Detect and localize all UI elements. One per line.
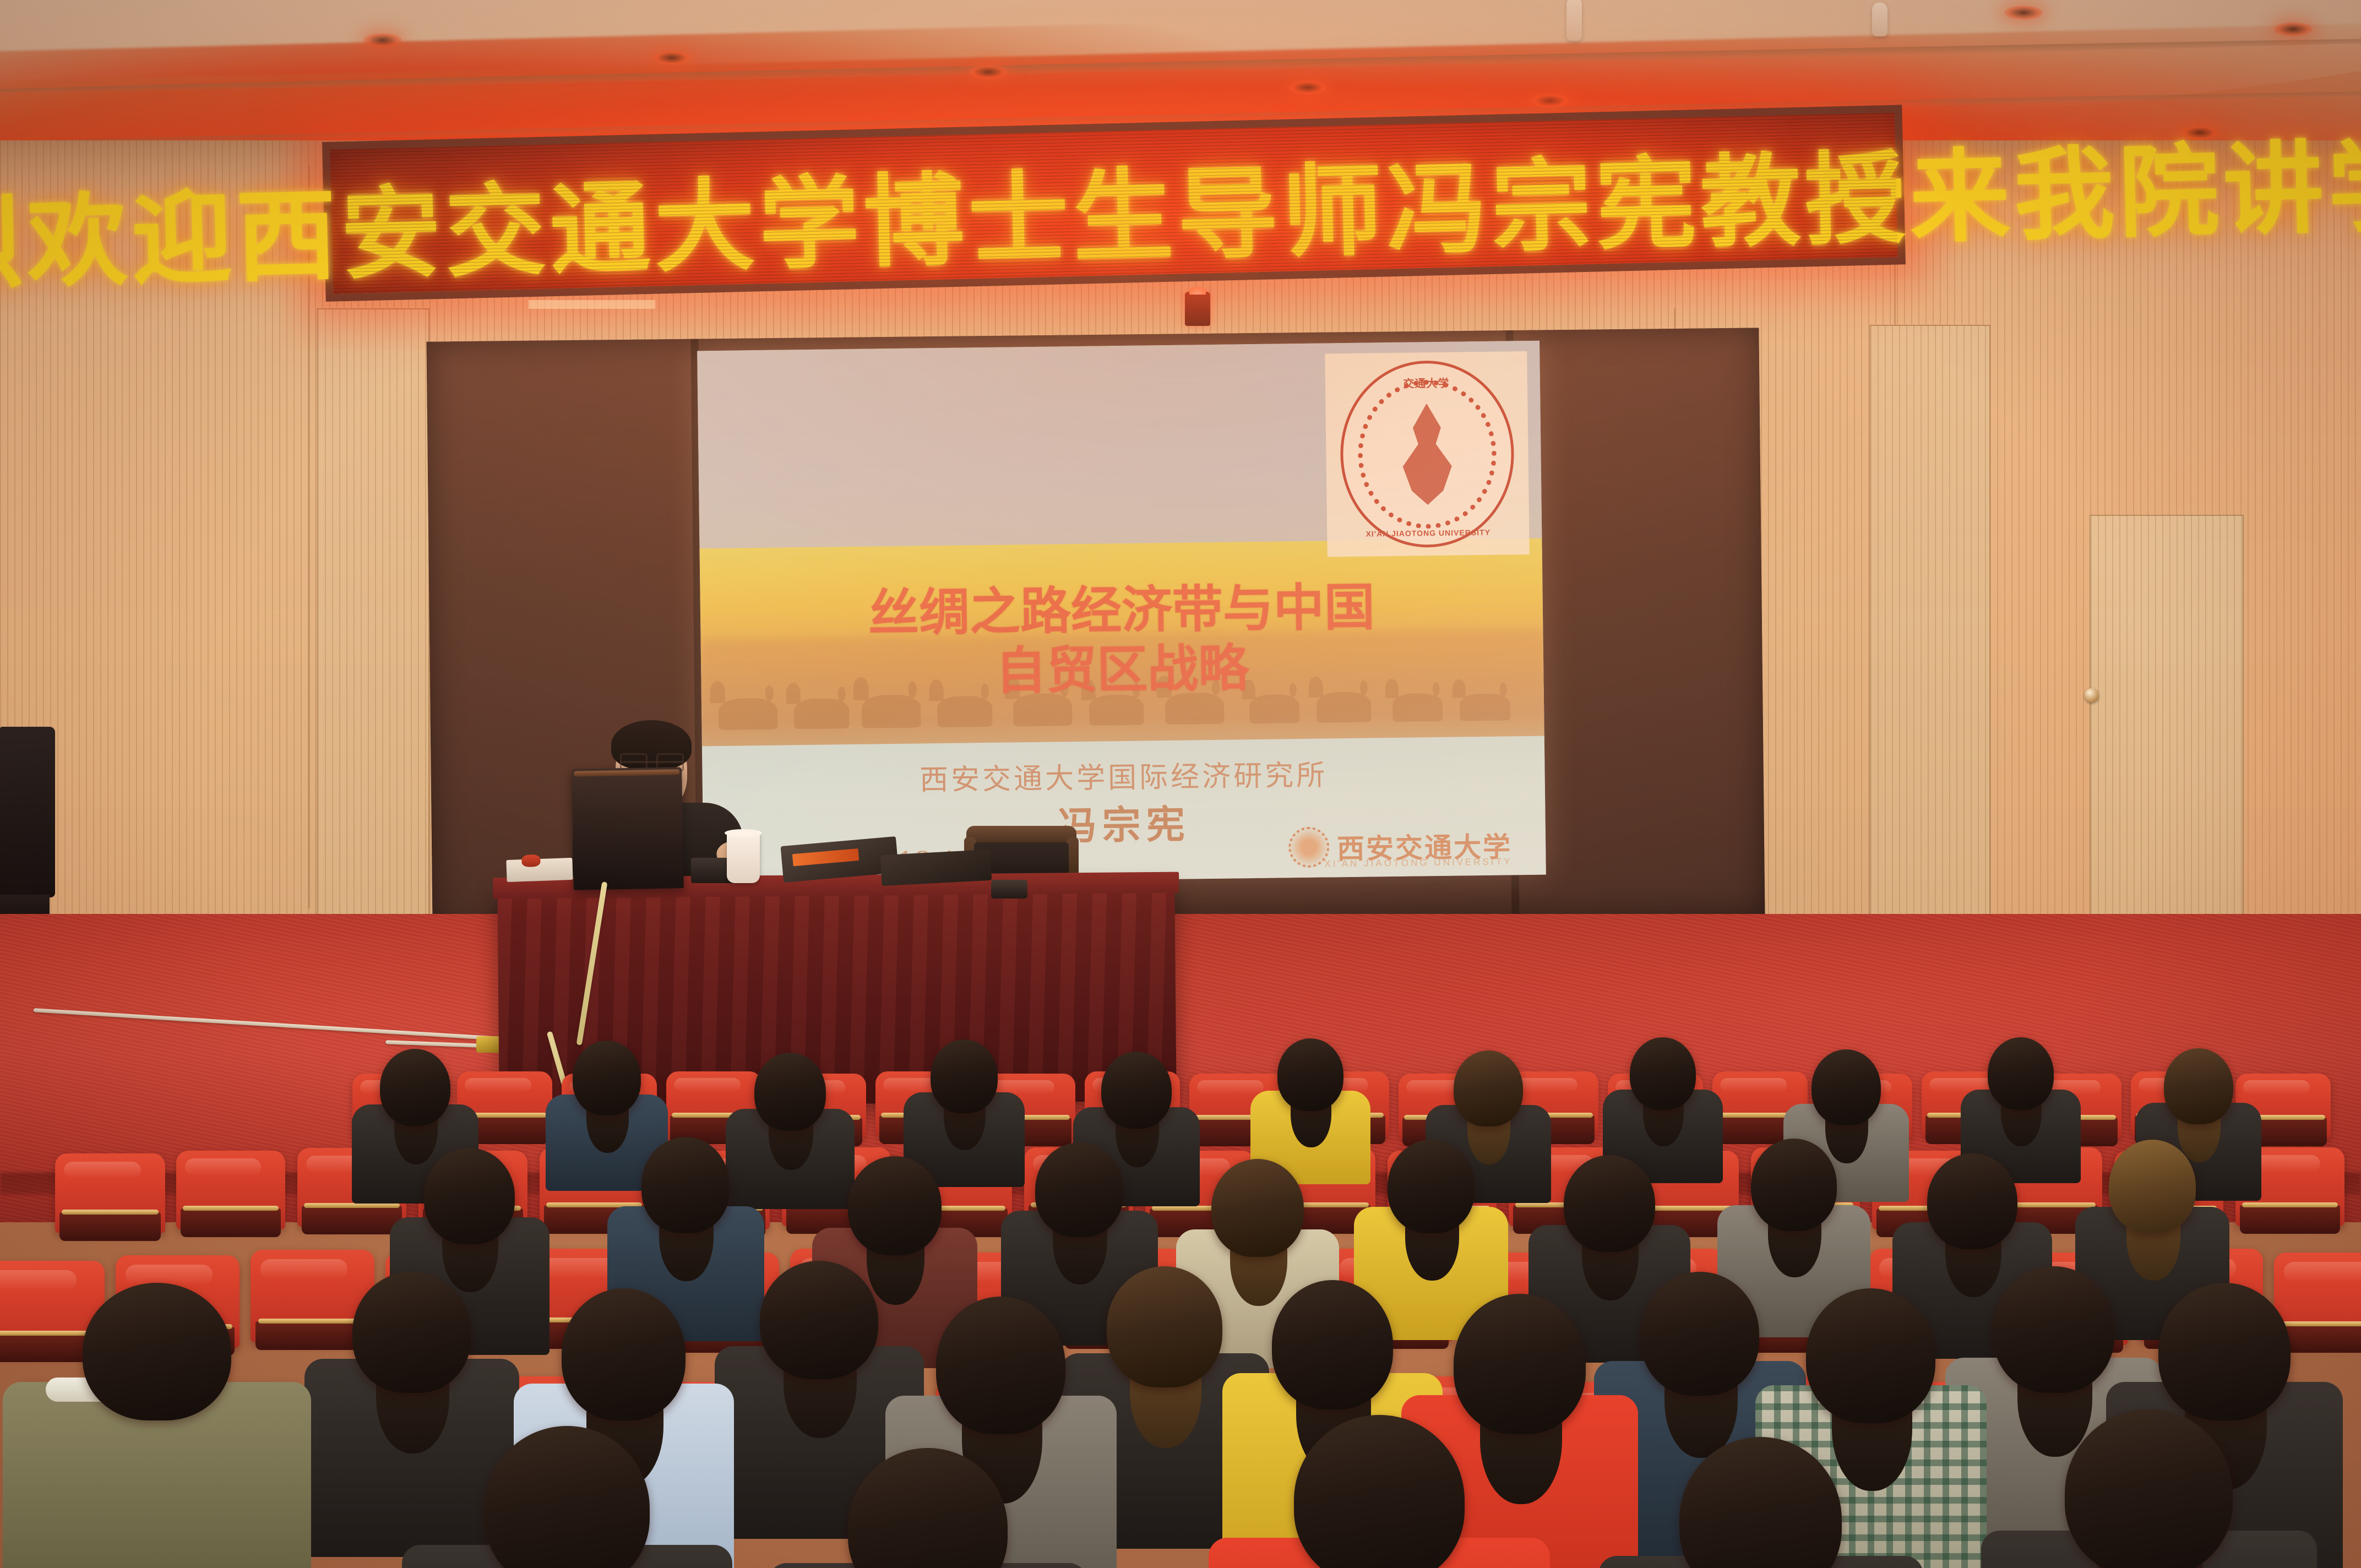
seat-wood-frame [59, 1212, 161, 1241]
ceiling-downlight-icon [969, 65, 1008, 79]
audience-member-head [1454, 1294, 1586, 1434]
seat-sheen [185, 1158, 262, 1175]
audience-member-head [754, 1053, 826, 1131]
secondary-microphone-base [991, 880, 1027, 899]
audience-member-head [83, 1283, 231, 1420]
audience-member-head [1564, 1155, 1655, 1252]
audience-member-head [562, 1288, 686, 1420]
audience-member-head [1211, 1159, 1304, 1257]
audience-member-head [1388, 1140, 1475, 1233]
side-door-right[interactable] [1869, 325, 1990, 922]
seat-wood-frame [302, 1206, 402, 1234]
audience-member-head [936, 1297, 1065, 1434]
seat-brass-trim [62, 1210, 159, 1215]
audience-member-head [1988, 1037, 2054, 1110]
led-banner-text: 热烈欢迎西安交通大学博士生导师冯宗宪教授来我院讲学 [330, 113, 1897, 294]
ceiling-downlight-icon [1531, 94, 1569, 108]
seat-wood-frame [2240, 1205, 2340, 1234]
audience-member-head [760, 1261, 878, 1379]
footer-university-pinyin: XI'AN JIAOTONG UNIVERSITY [1324, 856, 1512, 869]
audience-member-head [641, 1137, 730, 1233]
chair-backrest [966, 826, 1076, 845]
stage-left-monitor [0, 727, 55, 897]
led-banner-label-sticker [529, 300, 655, 309]
side-door-left[interactable] [317, 308, 429, 919]
slide-university-seal-box: 交通大学 XI'AN JIAOTONG UNIVERSITY [1325, 351, 1530, 557]
laptop-lid-edge [574, 769, 679, 776]
table-tray-item [506, 858, 573, 882]
audience-member-head [1641, 1272, 1759, 1396]
seat-sheen [1197, 1080, 1264, 1095]
ceiling-downlight-icon [1288, 80, 1327, 95]
seat-sheen [1720, 1078, 1787, 1092]
auditorium-seat[interactable] [176, 1151, 285, 1229]
slide-title-line-1: 丝绸之路经济带与中国 [868, 578, 1375, 643]
seat-brass-trim [2282, 1321, 2361, 1326]
audience-member-head [424, 1148, 515, 1244]
ceiling-downlight-icon [2004, 6, 2043, 20]
audience-member-head [2164, 1048, 2233, 1124]
xjtu-seal-icon: 交通大学 XI'AN JIAOTONG UNIVERSITY [1339, 360, 1515, 548]
audience-area [0, 1030, 2361, 1568]
audience-member-head [1811, 1049, 1881, 1125]
seal-ring-text-wrap: 交通大学 XI'AN JIAOTONG UNIVERSITY [1342, 362, 1513, 546]
audience-member-head [1993, 1266, 2114, 1393]
audience-member-head [931, 1039, 998, 1113]
ceiling-downlight-icon [363, 33, 402, 47]
audience-member-head [1272, 1280, 1393, 1409]
seat-sheen [64, 1162, 141, 1179]
seat-wood-frame [181, 1208, 281, 1237]
audience-member-head [1101, 1052, 1172, 1129]
seat-brass-trim [0, 1331, 97, 1336]
table-device-dark [880, 850, 992, 886]
seat-sheen [260, 1259, 347, 1280]
audience-member-head [1630, 1037, 1696, 1110]
lecture-hall-photo: 热烈欢迎西安交通大学博士生导师冯宗宪教授来我院讲学 [0, 0, 2361, 1568]
ceiling-pendant-icon [1566, 0, 1582, 41]
audience-member-head [1751, 1139, 1837, 1231]
audience-member-head [2109, 1140, 2196, 1233]
footer-seal-icon [1288, 826, 1330, 868]
seat-brass-trim [2242, 1202, 2338, 1207]
seat-sheen [2284, 1262, 2361, 1282]
ceiling-pendant-icon [1872, 2, 1887, 36]
audience-member-head [573, 1041, 641, 1115]
seat-wood-frame [2279, 1324, 2361, 1353]
ceiling-downlight-icon [2274, 22, 2313, 36]
seat-sheen [0, 1270, 77, 1291]
audience-member-head [2065, 1409, 2233, 1568]
ceiling-downlight-icon [652, 51, 691, 65]
presenter-laptop[interactable] [572, 767, 684, 890]
audience-member-head [1277, 1038, 1343, 1111]
audience-member-head [1107, 1266, 1222, 1387]
seal-ring-text: XI'AN JIAOTONG UNIVERSITY [1344, 527, 1513, 538]
audience-member-head [2158, 1283, 2291, 1420]
seat-sheen [126, 1265, 213, 1285]
seat-brass-trim [258, 1319, 367, 1324]
door-knob-icon[interactable] [2085, 688, 2099, 703]
audience-member-head [848, 1156, 942, 1255]
presenter-glasses-icon [620, 761, 684, 763]
slide-title-line-2: 自贸区战略 [701, 635, 1544, 705]
paper-cup-icon [727, 832, 760, 883]
seat-sheen [674, 1078, 741, 1092]
wall-access-door[interactable] [2090, 515, 2244, 922]
fire-alarm-strobe-icon [1185, 292, 1210, 326]
auditorium-seat[interactable] [55, 1153, 165, 1233]
audience-member-head [1035, 1142, 1123, 1237]
audience-member-head [380, 1049, 450, 1126]
audience-member-head [1454, 1050, 1523, 1126]
seat-brass-trim [304, 1203, 400, 1208]
audience-member-head [1806, 1288, 1935, 1423]
audience-member-head [1927, 1153, 2017, 1249]
audience-member-head [352, 1272, 471, 1393]
seat-sheen [465, 1078, 531, 1092]
projection-screen: 交通大学 XI'AN JIAOTONG UNIVERSITY 丝绸之路经济带与中… [697, 341, 1546, 885]
seat-brass-trim [183, 1206, 279, 1211]
slide-title: 丝绸之路经济带与中国 自贸区战略 [700, 575, 1544, 705]
seat-sheen [2243, 1080, 2310, 1095]
seal-top-text: 交通大学 [1342, 373, 1510, 391]
